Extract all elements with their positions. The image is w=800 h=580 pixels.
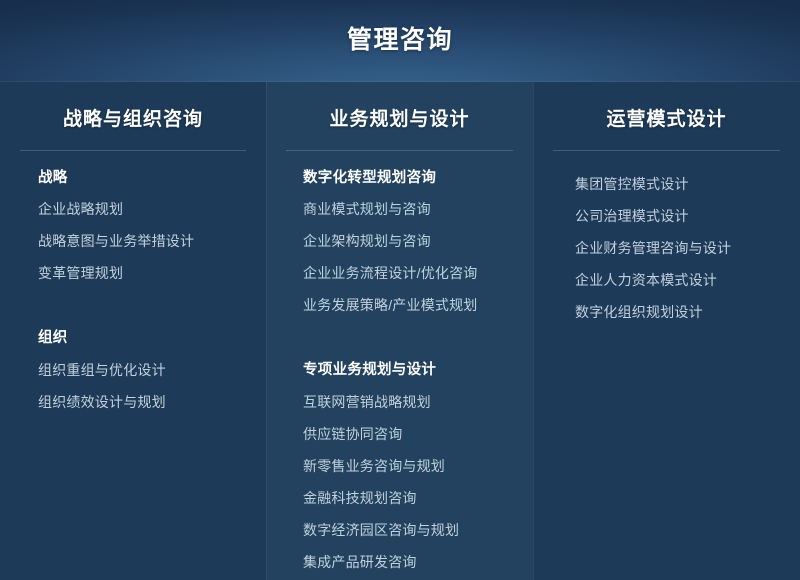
list-item[interactable]: 组织绩效设计与规划 [38,395,246,409]
column-body: 战略 企业战略规划 战略意图与业务举措设计 变革管理规划 组织 组织重组与优化设… [20,151,246,409]
service-list: 企业战略规划 战略意图与业务举措设计 变革管理规划 [38,202,246,280]
column-body: 数字化转型规划咨询 商业模式规划与咨询 企业架构规划与咨询 企业业务流程设计/优… [286,151,513,569]
column-strategy-and-organization: 战略与组织咨询 战略 企业战略规划 战略意图与业务举措设计 变革管理规划 组织 … [0,82,266,580]
list-item[interactable]: 企业战略规划 [38,202,246,216]
service-list: 互联网营销战略规划 供应链协同咨询 新零售业务咨询与规划 金融科技规划咨询 数字… [303,395,513,569]
list-item[interactable]: 企业人力资本模式设计 [575,273,780,287]
list-item[interactable]: 变革管理规划 [38,266,246,280]
column-title: 战略与组织咨询 [20,82,246,132]
list-item[interactable]: 组织重组与优化设计 [38,363,246,377]
column-body: 集团管控模式设计 公司治理模式设计 企业财务管理咨询与设计 企业人力资本模式设计… [553,151,780,319]
column-title: 业务规划与设计 [286,82,513,132]
list-item[interactable]: 集团管控模式设计 [575,177,780,191]
list-item[interactable]: 金融科技规划咨询 [303,491,513,505]
list-item[interactable]: 企业业务流程设计/优化咨询 [303,266,513,280]
page-title: 管理咨询 [347,28,453,55]
group-title: 组织 [38,331,246,346]
page-header: 管理咨询 [0,0,800,82]
list-item[interactable]: 企业架构规划与咨询 [303,234,513,248]
group-digital-transformation-planning: 数字化转型规划咨询 商业模式规划与咨询 企业架构规划与咨询 企业业务流程设计/优… [303,171,513,313]
list-item[interactable]: 战略意图与业务举措设计 [38,234,246,248]
list-item[interactable]: 数字化组织规划设计 [575,305,780,319]
group-strategy: 战略 企业战略规划 战略意图与业务举措设计 变革管理规划 [38,171,246,281]
columns-container: 战略与组织咨询 战略 企业战略规划 战略意图与业务举措设计 变革管理规划 组织 … [0,82,800,580]
column-title: 运营模式设计 [553,82,780,132]
list-item[interactable]: 商业模式规划与咨询 [303,202,513,216]
list-item[interactable]: 供应链协同咨询 [303,427,513,441]
service-list: 集团管控模式设计 公司治理模式设计 企业财务管理咨询与设计 企业人力资本模式设计… [575,177,780,319]
list-item[interactable]: 互联网营销战略规划 [303,395,513,409]
management-consulting-panel: 管理咨询 战略与组织咨询 战略 企业战略规划 战略意图与业务举措设计 变革管理规… [0,0,800,580]
group-title: 战略 [38,171,246,186]
list-item[interactable]: 业务发展策略/产业模式规划 [303,298,513,312]
group-organization: 组织 组织重组与优化设计 组织绩效设计与规划 [38,331,246,409]
list-item[interactable]: 新零售业务咨询与规划 [303,459,513,473]
list-item[interactable]: 集成产品研发咨询 [303,555,513,569]
group-operating-model: 集团管控模式设计 公司治理模式设计 企业财务管理咨询与设计 企业人力资本模式设计… [575,177,780,319]
list-item[interactable]: 公司治理模式设计 [575,209,780,223]
group-title: 数字化转型规划咨询 [303,171,513,186]
service-list: 组织重组与优化设计 组织绩效设计与规划 [38,363,246,409]
column-operating-model-design: 运营模式设计 集团管控模式设计 公司治理模式设计 企业财务管理咨询与设计 企业人… [533,82,800,580]
list-item[interactable]: 企业财务管理咨询与设计 [575,241,780,255]
column-business-planning-and-design: 业务规划与设计 数字化转型规划咨询 商业模式规划与咨询 企业架构规划与咨询 企业… [266,82,533,580]
list-item[interactable]: 数字经济园区咨询与规划 [303,523,513,537]
service-list: 商业模式规划与咨询 企业架构规划与咨询 企业业务流程设计/优化咨询 业务发展策略… [303,202,513,312]
group-title: 专项业务规划与设计 [303,363,513,378]
group-special-business-planning: 专项业务规划与设计 互联网营销战略规划 供应链协同咨询 新零售业务咨询与规划 金… [303,363,513,569]
